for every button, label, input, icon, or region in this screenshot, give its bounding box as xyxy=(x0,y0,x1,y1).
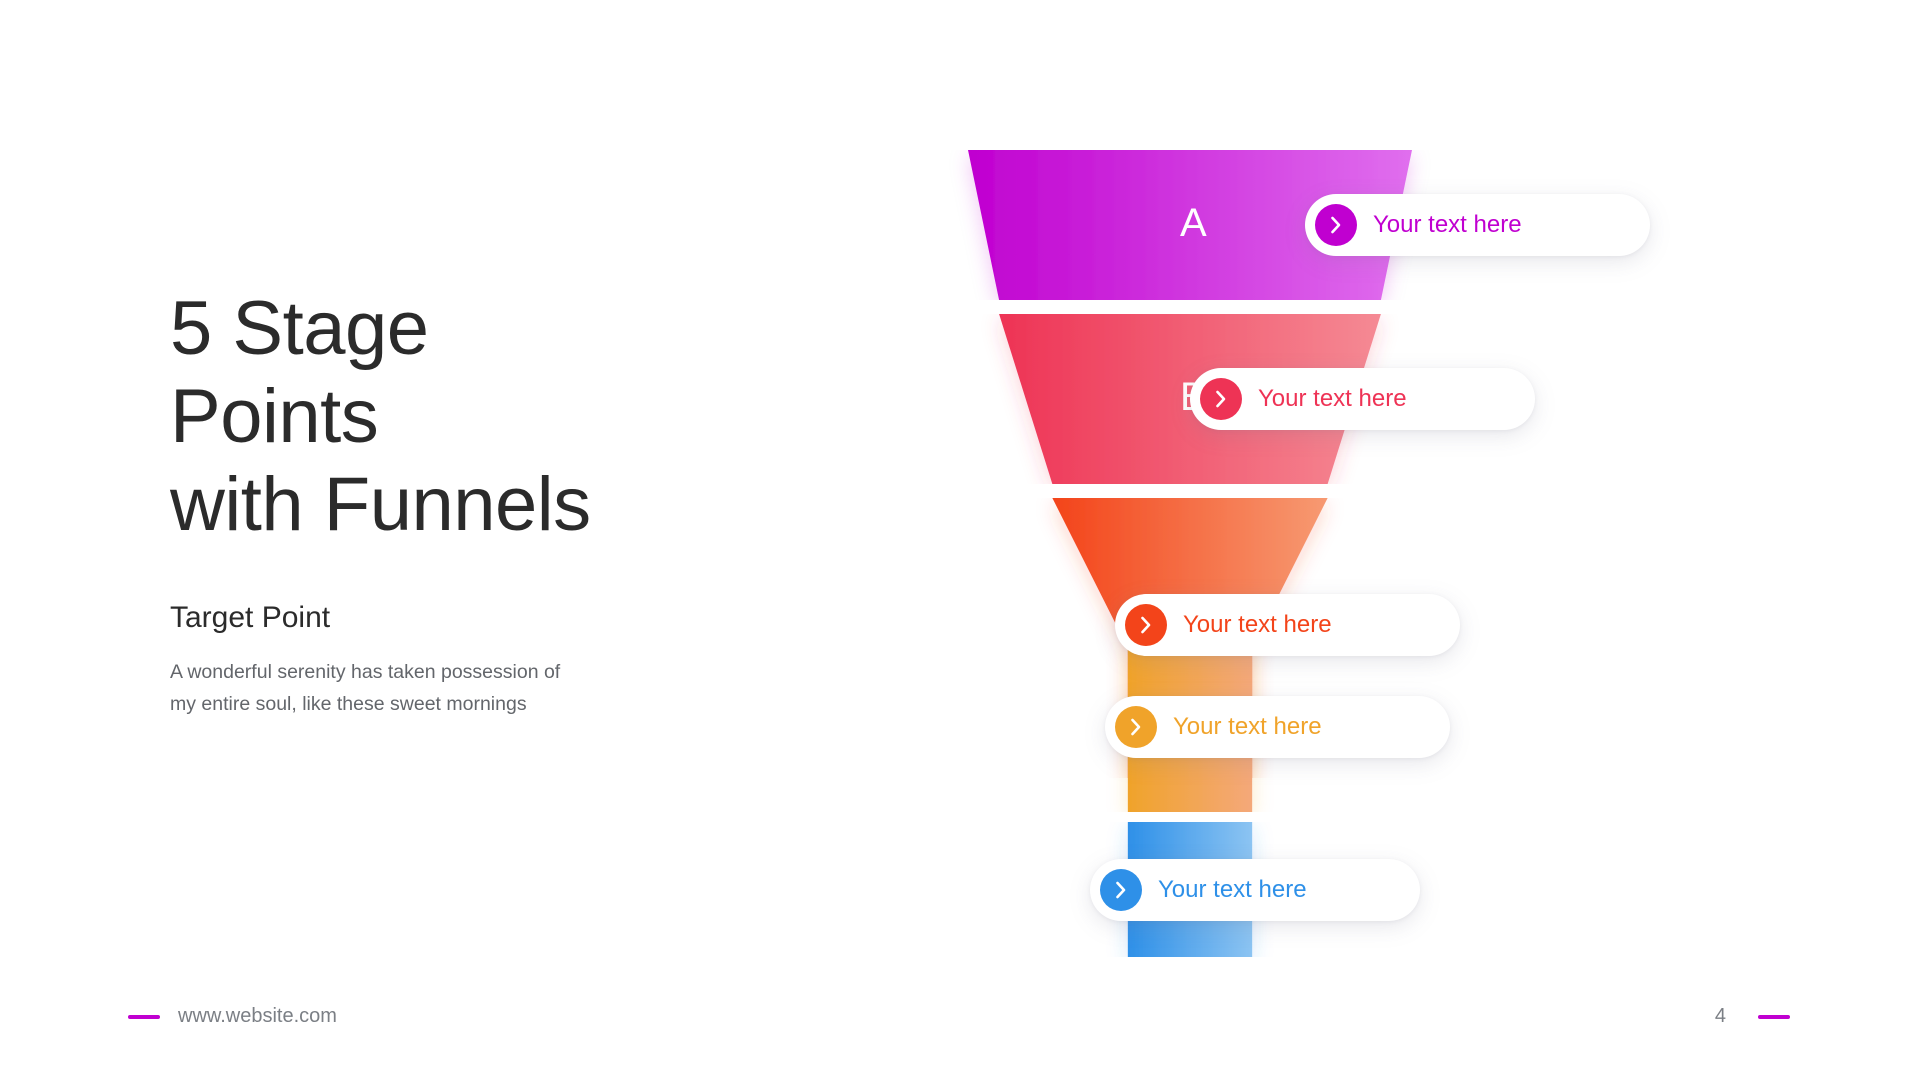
page-number: 4 xyxy=(1715,1005,1726,1028)
slide-canvas: 5 Stage Points with Funnels Target Point… xyxy=(0,0,1920,1080)
footer-website-url[interactable]: www.website.com xyxy=(178,1005,337,1028)
funnel-label-text: Your text here xyxy=(1258,385,1407,413)
chevron-right-icon xyxy=(1315,204,1357,246)
funnel-label-text: Your text here xyxy=(1183,611,1332,639)
footer-left: www.website.com xyxy=(128,1005,337,1028)
dash-icon xyxy=(128,1015,160,1019)
funnel-label-text: Your text here xyxy=(1373,211,1522,239)
funnel-label-pill-c[interactable]: Your text here xyxy=(1115,594,1460,656)
funnel-label-pill-d[interactable]: Your text here xyxy=(1105,696,1450,758)
funnel-label-text: Your text here xyxy=(1158,876,1307,904)
footer-right: 4 xyxy=(1715,1005,1790,1028)
chevron-right-icon xyxy=(1125,604,1167,646)
left-text-column: 5 Stage Points with Funnels Target Point… xyxy=(170,285,790,721)
funnel-label-pill-b[interactable]: Your text here xyxy=(1190,368,1535,430)
body-paragraph: A wonderful serenity has taken possessio… xyxy=(170,657,640,720)
funnel-label-pill-a[interactable]: Your text here xyxy=(1305,194,1650,256)
page-subtitle: Target Point xyxy=(170,601,790,635)
chevron-right-icon xyxy=(1100,869,1142,911)
funnel-label-text: Your text here xyxy=(1173,713,1322,741)
dash-icon xyxy=(1758,1015,1790,1019)
page-title: 5 Stage Points with Funnels xyxy=(170,285,790,549)
chevron-right-icon xyxy=(1200,378,1242,420)
funnel-chart: AYour text here BYour text here xyxy=(900,150,1900,940)
chevron-right-icon xyxy=(1115,706,1157,748)
funnel-label-pill-e[interactable]: Your text here xyxy=(1090,859,1420,921)
